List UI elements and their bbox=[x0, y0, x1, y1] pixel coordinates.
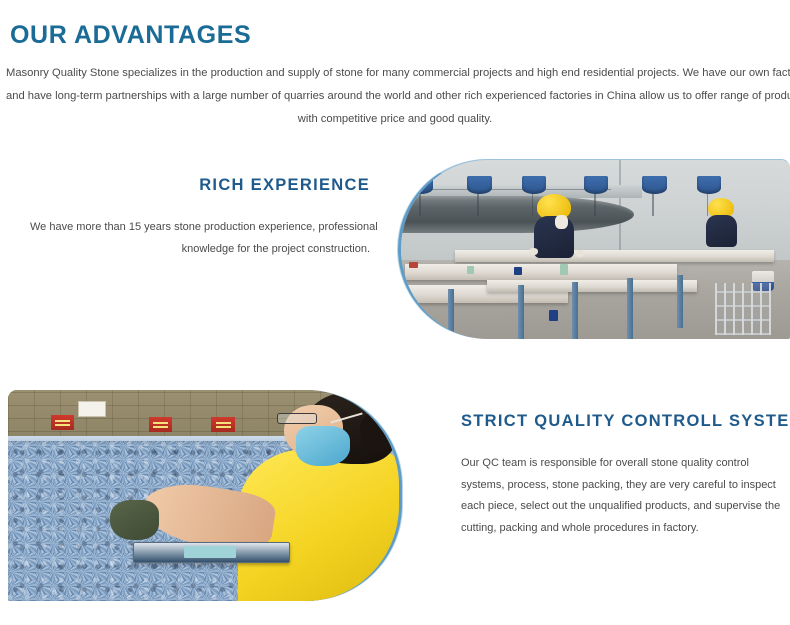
factory-extractor-hood-2 bbox=[467, 176, 492, 194]
glasses-icon bbox=[277, 413, 316, 424]
intro-line-2: and have long-term partnerships with a l… bbox=[6, 85, 784, 108]
intro-line-3: with competitive price and good quality. bbox=[6, 108, 784, 131]
factory-worker-1 bbox=[537, 194, 571, 256]
section-heading-strict-quality-controll-system: STRICT QUALITY CONTROLL SYSTEM bbox=[461, 412, 786, 431]
face-mask bbox=[555, 215, 568, 229]
our-advantages-page: OUR ADVANTAGES Masonry Quality Stone spe… bbox=[0, 0, 790, 625]
factory-extractor-hood-5 bbox=[642, 176, 667, 194]
qc-wall-sign-red-3 bbox=[211, 417, 234, 432]
factory-duct bbox=[398, 196, 634, 234]
factory-bench-leg-3 bbox=[572, 282, 578, 339]
qc-inspector-hair-bun bbox=[360, 409, 402, 451]
section-strict-quality-controll-system: STRICT QUALITY CONTROLL SYSTEM Our QC te… bbox=[461, 412, 786, 539]
qc-inspection-photo bbox=[8, 390, 402, 601]
factory-worker-1-glove-left bbox=[529, 248, 538, 255]
factory-scene bbox=[401, 160, 790, 339]
factory-extractor-hood-1 bbox=[409, 176, 434, 194]
rich-experience-body-line-1: We have more than 15 years stone product… bbox=[30, 216, 370, 238]
factory-bench-leg-4 bbox=[627, 278, 633, 339]
factory-box-blue-1 bbox=[514, 267, 522, 275]
rich-experience-body-line-2: knowledge for the project construction. bbox=[30, 238, 370, 260]
factory-slab-mid bbox=[405, 264, 677, 280]
qc-wall-sign-red-1 bbox=[51, 415, 74, 430]
factory-slab-back bbox=[455, 250, 774, 263]
qc-inspector-glove bbox=[110, 500, 159, 540]
qc-measuring-tool bbox=[133, 542, 289, 563]
face-mask-icon bbox=[296, 426, 350, 466]
factory-bench-leg-5 bbox=[677, 275, 683, 329]
section-body-strict-quality-controll-system: Our QC team is responsible for overall s… bbox=[461, 453, 786, 539]
worker-body bbox=[706, 215, 737, 248]
intro-line-1: Masonry Quality Stone specializes in the… bbox=[6, 62, 784, 85]
factory-box-blue-2 bbox=[549, 310, 558, 321]
factory-trolley bbox=[715, 283, 771, 335]
qc-wall-sign-red-2 bbox=[149, 417, 172, 432]
qc-scene bbox=[8, 390, 399, 601]
qc-inspector bbox=[235, 390, 399, 601]
factory-pipe bbox=[409, 189, 611, 191]
section-heading-rich-experience: RICH EXPERIENCE bbox=[30, 176, 370, 195]
factory-extractor-hood-4 bbox=[584, 176, 609, 194]
factory-worker-1-glove-right bbox=[576, 250, 585, 257]
section-rich-experience: RICH EXPERIENCE We have more than 15 yea… bbox=[30, 176, 370, 260]
factory-extractor-hood-6 bbox=[697, 176, 722, 194]
factory-worker-2 bbox=[708, 198, 734, 246]
factory-box-red-1 bbox=[409, 262, 418, 268]
qc-wall-sign-white bbox=[78, 401, 105, 418]
factory-bench-leg-1 bbox=[448, 289, 454, 339]
factory-box-green-2 bbox=[560, 264, 568, 275]
intro-paragraph: Masonry Quality Stone specializes in the… bbox=[6, 62, 784, 131]
section-body-rich-experience: We have more than 15 years stone product… bbox=[30, 216, 370, 260]
factory-workers-photo bbox=[398, 159, 790, 339]
factory-bench-leg-2 bbox=[518, 285, 524, 339]
page-title: OUR ADVANTAGES bbox=[10, 21, 251, 50]
factory-box-green-1 bbox=[467, 266, 474, 274]
factory-extractor-hood-3 bbox=[522, 176, 547, 194]
